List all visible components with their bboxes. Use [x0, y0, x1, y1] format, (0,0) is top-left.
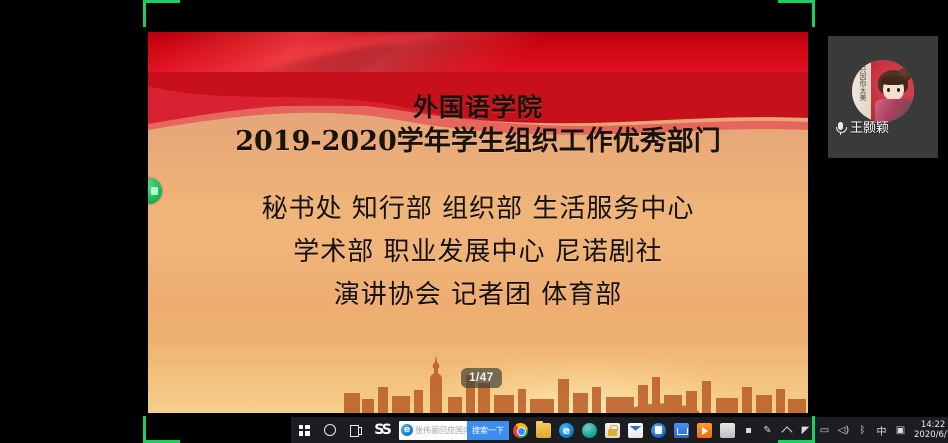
avatar-vertical-text: 只因你太美: [855, 66, 867, 101]
system-tray: ▪ ✎ ◤ ▭ ◁) ᛒ 中 ▣ 14:22 2020/6/7 12: [739, 417, 948, 443]
screen-stage: 外国语学院 2019-2020学年学生组织工作优秀部门 秘书处 知行部 组织部 …: [0, 0, 948, 443]
cortana-search-button[interactable]: [317, 417, 343, 443]
windows-logo-icon: [299, 425, 310, 436]
ime-language-icon[interactable]: 中: [872, 417, 891, 443]
taskbar-left-group: SS e 张伟丽回应国内 搜索一下 e: [291, 417, 739, 443]
taskbar-app-chrome[interactable]: [509, 417, 532, 443]
clock-time: 14:22: [914, 420, 948, 430]
presentation-slide[interactable]: 外国语学院 2019-2020学年学生组织工作优秀部门 秘书处 知行部 组织部 …: [148, 32, 808, 413]
search-input[interactable]: 张伟丽回应国内: [415, 421, 467, 440]
sogou-input-button[interactable]: SS: [369, 417, 395, 443]
sogou-logo-icon: SS: [375, 423, 390, 438]
shared-screen-region: 外国语学院 2019-2020学年学生组织工作优秀部门 秘书处 知行部 组织部 …: [143, 0, 815, 443]
task-view-button[interactable]: [343, 417, 369, 443]
taskbar-app-security[interactable]: [601, 417, 624, 443]
slide-body-line-3: 演讲协会 记者团 体育部: [148, 274, 808, 317]
slide-body-block: 秘书处 知行部 组织部 生活服务中心 学术部 职业发展中心 尼诺剧社 演讲协会 …: [148, 188, 808, 317]
show-more-chevron-icon[interactable]: [777, 417, 796, 443]
bluetooth-icon[interactable]: ᛒ: [853, 417, 872, 443]
network-icon[interactable]: ◤: [796, 417, 815, 443]
share-border-corner-top-left: [143, 0, 180, 27]
slide-body-line-1: 秘书处 知行部 组织部 生活服务中心: [148, 188, 808, 231]
avatar-bangs: [881, 75, 906, 85]
taskbar-search-box[interactable]: e 张伟丽回应国内 搜索一下: [399, 421, 509, 440]
edge-icon: e: [559, 423, 574, 438]
chrome-icon: [513, 423, 528, 438]
folder-icon: [536, 423, 551, 438]
edge-e-glyph: e: [401, 424, 413, 436]
show-hidden-icons-button[interactable]: ▪: [739, 417, 758, 443]
taskbar-app-teal[interactable]: [578, 417, 601, 443]
grey-app-icon: [720, 423, 735, 438]
lock-icon: [605, 423, 620, 438]
avatar-body: [875, 99, 913, 122]
taskbar-app-file-explorer[interactable]: [532, 417, 555, 443]
taskbar-app-edge[interactable]: e: [555, 417, 578, 443]
blue-app-icon: [651, 423, 666, 438]
taskbar-app-grey[interactable]: [716, 417, 739, 443]
avatar-eye-right: [897, 88, 900, 92]
share-border-corner-top-right: [778, 0, 815, 27]
microphone-icon[interactable]: [834, 121, 847, 136]
mail-icon: [628, 423, 643, 438]
slide-text-block: 外国语学院 2019-2020学年学生组织工作优秀部门 秘书处 知行部 组织部 …: [148, 92, 808, 317]
avatar: 只因你太美: [852, 60, 914, 122]
browser-e-icon: e: [399, 421, 415, 440]
avatar-eye-left: [887, 88, 890, 92]
participant-video-tile[interactable]: 只因你太美 王颢颖: [828, 36, 938, 158]
store-cart-icon: [674, 423, 689, 438]
volume-icon[interactable]: ◁): [834, 417, 853, 443]
taskbar-app-blue[interactable]: [647, 417, 670, 443]
teal-app-icon: [582, 423, 597, 438]
ime-panel-icon[interactable]: ▣: [891, 417, 910, 443]
cityscape-silhouette-icon: [338, 349, 808, 413]
share-border-corner-bottom-left: [143, 416, 180, 443]
taskbar-clock[interactable]: 14:22 2020/6/7: [910, 420, 948, 440]
taskbar-app-mail[interactable]: [624, 417, 647, 443]
play-icon: [697, 423, 712, 438]
taskbar-app-media-player[interactable]: [693, 417, 716, 443]
start-button[interactable]: [291, 417, 317, 443]
slide-title-line2: 2019-2020学年学生组织工作优秀部门: [148, 124, 808, 160]
slide-body-line-2: 学术部 职业发展中心 尼诺剧社: [148, 231, 808, 274]
search-submit-button[interactable]: 搜索一下: [467, 421, 509, 440]
slide-page-indicator: 1/47: [461, 368, 502, 388]
participant-name: 王颢颖: [850, 121, 889, 136]
clock-date: 2020/6/7: [914, 430, 948, 440]
search-circle-icon: [324, 424, 336, 436]
video-tile-footer: 王颢颖: [834, 121, 889, 136]
taskbar-app-store[interactable]: [670, 417, 693, 443]
slide-title-line1: 外国语学院: [148, 92, 808, 124]
pen-icon[interactable]: ✎: [758, 417, 777, 443]
windows-taskbar: SS e 张伟丽回应国内 搜索一下 e: [291, 417, 948, 443]
battery-icon[interactable]: ▭: [815, 417, 834, 443]
task-view-icon: [350, 425, 362, 435]
